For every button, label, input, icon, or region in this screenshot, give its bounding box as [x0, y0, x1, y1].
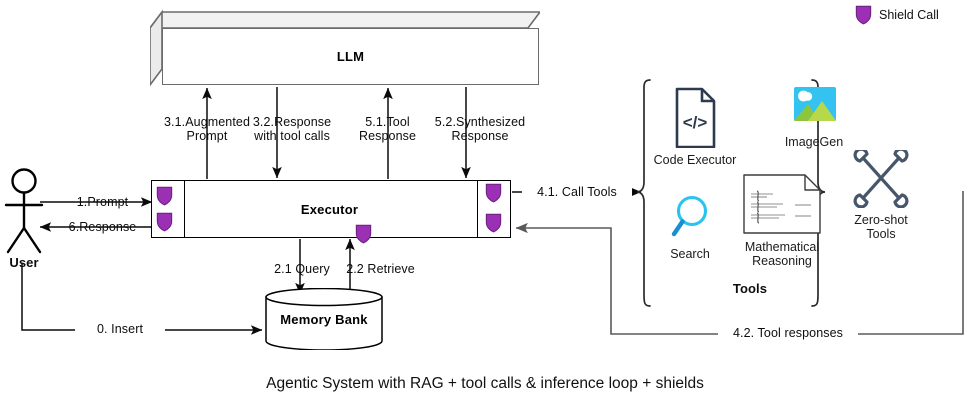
- tool-label: Search: [650, 247, 730, 261]
- tools-group-label: Tools: [690, 282, 810, 296]
- crossed-wrenches-icon: [838, 150, 924, 208]
- tool-code-executor[interactable]: </> Code Executor: [649, 86, 741, 167]
- legend-label: Shield Call: [879, 8, 939, 22]
- llm-label-wrap: LLM: [162, 28, 539, 85]
- tool-search[interactable]: Search: [650, 192, 730, 261]
- magnifier-icon: [650, 192, 730, 242]
- tool-mathematical-reasoning[interactable]: Mathematical Reasoning: [730, 173, 834, 268]
- shield-icon: [855, 5, 872, 25]
- edge-label-1-prompt: 1.Prompt: [55, 195, 150, 209]
- memory-bank-label-wrap: Memory Bank: [265, 296, 383, 342]
- llm-label: LLM: [337, 49, 364, 64]
- tool-label: Zero-shot Tools: [838, 213, 924, 241]
- memory-bank-label: Memory Bank: [280, 312, 367, 327]
- edge-label-2-2-retrieve: 2.2 Retrieve: [333, 262, 428, 276]
- math-document-icon: [730, 173, 834, 235]
- executor-label-wrap: Executor: [184, 181, 475, 237]
- image-icon: [768, 86, 860, 130]
- tool-label: Code Executor: [649, 153, 741, 167]
- tool-zero-shot-tools[interactable]: Zero-shot Tools: [838, 150, 924, 241]
- user-actor-icon: [2, 168, 46, 263]
- shield-icon: [156, 212, 173, 232]
- code-document-icon: </>: [649, 86, 741, 148]
- llm-node: LLM: [150, 6, 540, 86]
- executor-right-divider: [477, 181, 478, 237]
- user-label: User: [0, 256, 48, 270]
- edge-label-4-2-tool-responses: 4.2. Tool responses: [718, 326, 858, 340]
- tool-label: ImageGen: [768, 135, 860, 149]
- shield-icon: [485, 213, 502, 233]
- executor-label: Executor: [301, 202, 358, 217]
- shield-icon: [355, 224, 372, 244]
- shield-icon: [156, 186, 173, 206]
- edge-label-2-1-query: 2.1 Query: [262, 262, 342, 276]
- edge-label-6-response: 6.Response: [50, 220, 155, 234]
- diagram-canvas: LLM 3.1.Augmented Prompt 3.2.Response wi…: [0, 0, 970, 411]
- edge-label-0-insert: 0. Insert: [75, 322, 165, 336]
- edge-label-4-1-call-tools: 4.1. Call Tools: [522, 185, 632, 199]
- tool-label: Mathematical Reasoning: [730, 240, 834, 268]
- memory-bank-node: Memory Bank: [265, 288, 383, 350]
- tool-imagegen[interactable]: ImageGen: [768, 86, 860, 149]
- edge-label-5-2: 5.2.Synthesized Response: [420, 115, 540, 143]
- shield-icon: [485, 183, 502, 203]
- svg-text:</>: </>: [683, 113, 708, 132]
- legend: Shield Call: [855, 5, 939, 25]
- executor-node: Executor: [151, 180, 511, 238]
- diagram-caption: Agentic System with RAG + tool calls & i…: [0, 375, 970, 393]
- edge-label-3-2: 3.2.Response with tool calls: [232, 115, 352, 143]
